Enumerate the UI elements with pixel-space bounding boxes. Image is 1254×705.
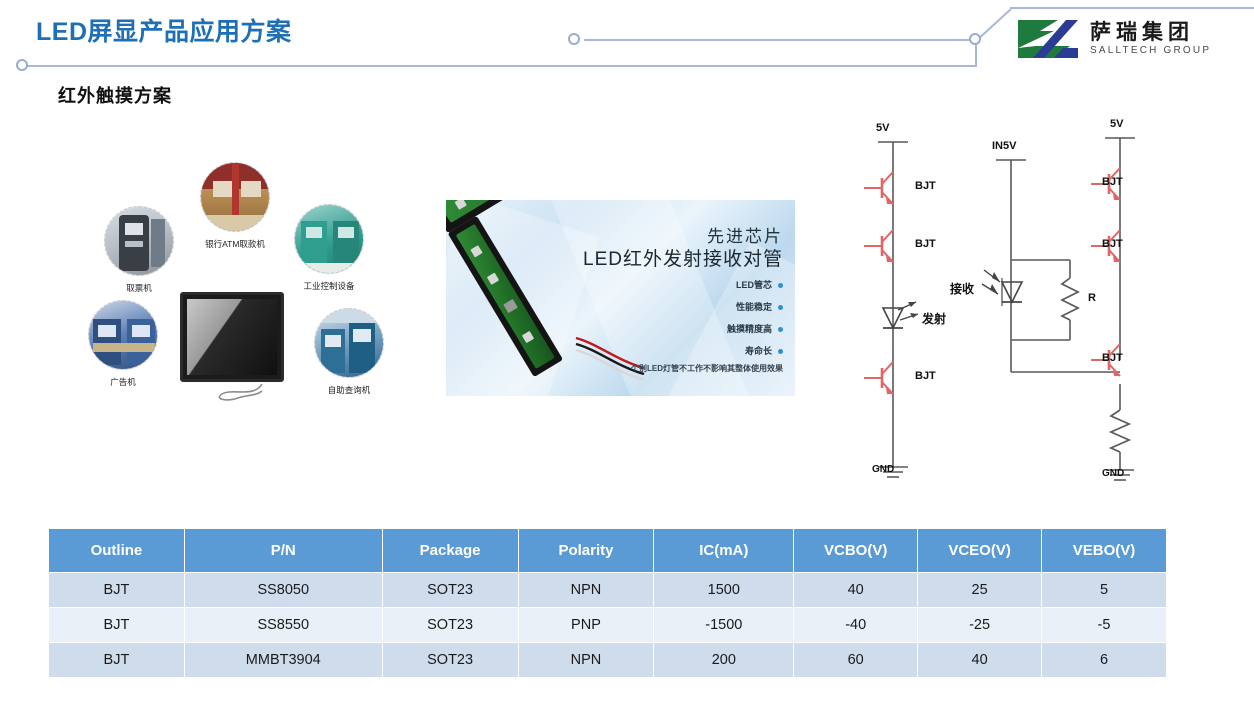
- cell-polarity: NPN: [518, 573, 654, 608]
- receiver-input-label: IN5V: [992, 140, 1016, 152]
- app-photo-self-service: [314, 308, 384, 378]
- header-decoration-line-bottom: [22, 65, 977, 67]
- bullet-dot-icon: [778, 327, 783, 332]
- bullet-dot-icon: [778, 349, 783, 354]
- photo-feature-list: LED管芯 性能稳定 触摸精度高 寿命长: [727, 278, 783, 366]
- cell-ic: 200: [654, 643, 794, 678]
- cell-vebo: -5: [1042, 608, 1167, 643]
- photo-headline-large: LED红外发射接收对管: [583, 244, 783, 271]
- section-subtitle: 红外触摸方案: [58, 82, 172, 108]
- receiver-circuit-schematic: [980, 112, 1200, 502]
- app-photo-industrial: [294, 204, 364, 274]
- table-row: BJT MMBT3904 SOT23 NPN 200 60 40 6: [49, 643, 1167, 678]
- app-photo-advertising: [88, 300, 158, 370]
- resistor-parallel-symbol: [1062, 278, 1078, 320]
- cell-pn: SS8550: [184, 608, 382, 643]
- table-header-polarity: Polarity: [518, 529, 654, 573]
- emitter-supply-label: 5V: [876, 122, 889, 134]
- receiver-photodiode-label: 接收: [950, 280, 974, 297]
- app-label-ticket-machine: 取票机: [109, 282, 169, 294]
- cell-vceo: 25: [918, 573, 1042, 608]
- receiver-bjt-label-1: BJT: [1102, 176, 1123, 188]
- slide-root: LED屏显产品应用方案 萨瑞集团 SALLTECH GROUP 红外触摸方案: [0, 0, 1254, 705]
- touch-monitor-device: [180, 292, 284, 382]
- resistor-ground-symbol: [1111, 410, 1129, 452]
- cell-polarity: PNP: [518, 608, 654, 643]
- table-header-vebo: VEBO(V): [1042, 529, 1167, 573]
- cell-outline: BJT: [49, 573, 185, 608]
- cell-vcbo: -40: [794, 608, 918, 643]
- logo-name-cn: 萨瑞集团: [1090, 21, 1211, 44]
- emitter-circuit-schematic: [840, 112, 990, 502]
- receiver-ground-label: GND: [1102, 468, 1124, 479]
- receiver-supply-label: 5V: [1110, 118, 1123, 130]
- monitor-cable-icon: [212, 382, 270, 404]
- table-row: BJT SS8050 SOT23 NPN 1500 40 25 5: [49, 573, 1167, 608]
- cell-vebo: 6: [1042, 643, 1167, 678]
- emitter-bjt-label-2: BJT: [915, 238, 936, 250]
- cell-ic: 1500: [654, 573, 794, 608]
- header-decoration-line-top: [584, 39, 976, 41]
- transistor-symbol-2: [864, 230, 893, 262]
- product-photo-banner: 先进芯片 LED红外发射接收对管 LED管芯 性能稳定 触摸精度高 寿命长 个别…: [446, 200, 795, 396]
- circuit-diagrams: 5V BJT BJT 发射 BJT GND: [840, 112, 1200, 502]
- salltech-logo-icon: [1014, 16, 1082, 62]
- photodiode-symbol: [982, 270, 1022, 306]
- cell-vceo: -25: [918, 608, 1042, 643]
- app-label-industrial: 工业控制设备: [274, 280, 384, 292]
- app-photo-ticket-machine: [104, 206, 174, 276]
- cell-polarity: NPN: [518, 643, 654, 678]
- application-scenarios-diagram: 取票机 银行ATM取款机 工业控制设备: [88, 160, 418, 410]
- table-header-vcbo: VCBO(V): [794, 529, 918, 573]
- photo-feature-item: 触摸精度高: [727, 322, 783, 335]
- cell-package: SOT23: [382, 573, 518, 608]
- decoration-circle-mid: [568, 33, 580, 45]
- cell-outline: BJT: [49, 643, 185, 678]
- table-header-pn: P/N: [184, 529, 382, 573]
- cell-outline: BJT: [49, 608, 185, 643]
- logo-name-en: SALLTECH GROUP: [1090, 45, 1211, 57]
- led-emitter-symbol: [883, 302, 918, 328]
- cell-pn: SS8050: [184, 573, 382, 608]
- app-label-advertising: 广告机: [93, 376, 153, 388]
- cell-vcbo: 40: [794, 573, 918, 608]
- photo-footnote: 个别LED灯管不工作不影响其整体使用效果: [631, 363, 783, 374]
- cell-package: SOT23: [382, 643, 518, 678]
- decoration-circle-right: [969, 33, 981, 45]
- receiver-bjt-label-3: BJT: [1102, 352, 1123, 364]
- receiver-bjt-label-2: BJT: [1102, 238, 1123, 250]
- app-label-self-service: 自助查询机: [294, 384, 404, 396]
- table-header-ic: IC(mA): [654, 529, 794, 573]
- receiver-resistor-label: R: [1088, 292, 1096, 304]
- cell-vceo: 40: [918, 643, 1042, 678]
- table-header-package: Package: [382, 529, 518, 573]
- bullet-dot-icon: [778, 305, 783, 310]
- transistor-symbol-1: [864, 172, 893, 204]
- cell-package: SOT23: [382, 608, 518, 643]
- cell-vebo: 5: [1042, 573, 1167, 608]
- photo-feature-item: 寿命长: [727, 344, 783, 357]
- table-header-outline: Outline: [49, 529, 185, 573]
- emitter-led-label: 发射: [922, 310, 946, 327]
- app-photo-bank-atm: [200, 162, 270, 232]
- photo-feature-item: LED管芯: [727, 278, 783, 291]
- bullet-dot-icon: [778, 283, 783, 288]
- cell-pn: MMBT3904: [184, 643, 382, 678]
- monitor-screen: [187, 299, 277, 375]
- emitter-bjt-label-1: BJT: [915, 180, 936, 192]
- pcb-connector-wires-icon: [572, 328, 662, 396]
- table-row: BJT SS8550 SOT23 PNP -1500 -40 -25 -5: [49, 608, 1167, 643]
- cell-vcbo: 60: [794, 643, 918, 678]
- cell-ic: -1500: [654, 608, 794, 643]
- table-header-vceo: VCEO(V): [918, 529, 1042, 573]
- company-logo: 萨瑞集团 SALLTECH GROUP: [1014, 16, 1211, 62]
- decoration-circle-left: [16, 59, 28, 71]
- table-header-row: Outline P/N Package Polarity IC(mA) VCBO…: [49, 529, 1167, 573]
- transistor-symbol-3: [864, 362, 893, 394]
- app-label-bank-atm: 银行ATM取款机: [180, 238, 290, 250]
- header-decoration-line-right: [1010, 7, 1254, 9]
- page-title: LED屏显产品应用方案: [36, 12, 292, 48]
- photo-feature-item: 性能稳定: [727, 300, 783, 313]
- emitter-ground-label: GND: [872, 464, 894, 475]
- specification-table: Outline P/N Package Polarity IC(mA) VCBO…: [48, 528, 1167, 678]
- emitter-bjt-label-3: BJT: [915, 370, 936, 382]
